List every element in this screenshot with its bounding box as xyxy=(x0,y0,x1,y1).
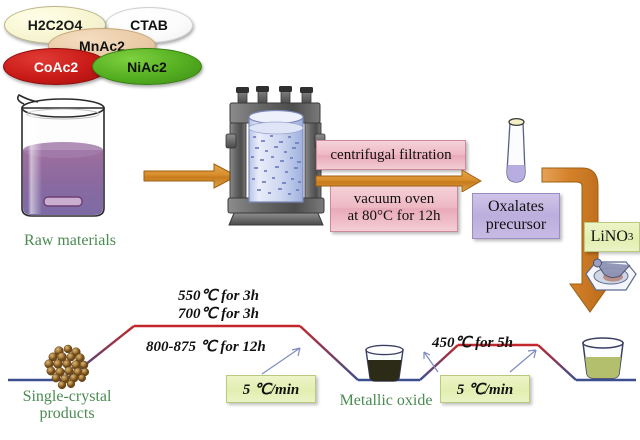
vacuum-oven-line1: vacuum oven xyxy=(354,191,434,208)
single-crystal-line1: Single-crystal xyxy=(23,388,112,405)
lino3-label: LiNO xyxy=(591,228,628,246)
single-crystal-products-label: Single-crystal products xyxy=(2,388,132,423)
precursor-pill-niac2: NiAc2 xyxy=(92,48,202,85)
temp-annotation-800-875c: 800-875 ℃ for 12h xyxy=(146,337,266,356)
raw-materials-label: Raw materials xyxy=(10,232,130,249)
temp-annotation-450c: 450℃ for 5h xyxy=(432,333,513,352)
lino3-subscript: 3 xyxy=(628,231,634,243)
lithium-source-box: LiNO3 xyxy=(584,222,640,252)
crucible-final-product-icon xyxy=(576,336,630,384)
arrow-right-to-precursor-icon xyxy=(314,170,484,192)
oxalates-line2: precursor xyxy=(486,216,546,234)
metallic-oxide-label: Metallic oxide xyxy=(326,392,446,409)
temp-annotation-700c: 700℃ for 3h xyxy=(178,304,259,323)
raw-materials-beaker-icon xyxy=(8,88,128,228)
vacuum-oven-line2: at 80°C for 12h xyxy=(347,208,440,225)
single-crystal-line2: products xyxy=(39,405,94,422)
diagram-canvas: H2C2O4 CTAB MnAc2 CoAc2 NiAc2 xyxy=(0,0,640,440)
crucible-metallic-oxide-icon xyxy=(360,344,410,386)
process-box-centrifugal-filtration: centrifugal filtration xyxy=(316,140,466,170)
oxalates-line1: Oxalates xyxy=(488,198,544,216)
ramp-rate-box-left: 5 ℃/min xyxy=(226,375,316,403)
test-tube-oxalates-icon xyxy=(498,112,538,186)
single-crystal-cluster-icon xyxy=(38,342,100,394)
mortar-pestle-icon xyxy=(580,254,640,300)
temp-annotation-550c: 550℃ for 3h xyxy=(178,286,259,305)
ramp-rate-box-right: 5 ℃/min xyxy=(440,375,530,403)
